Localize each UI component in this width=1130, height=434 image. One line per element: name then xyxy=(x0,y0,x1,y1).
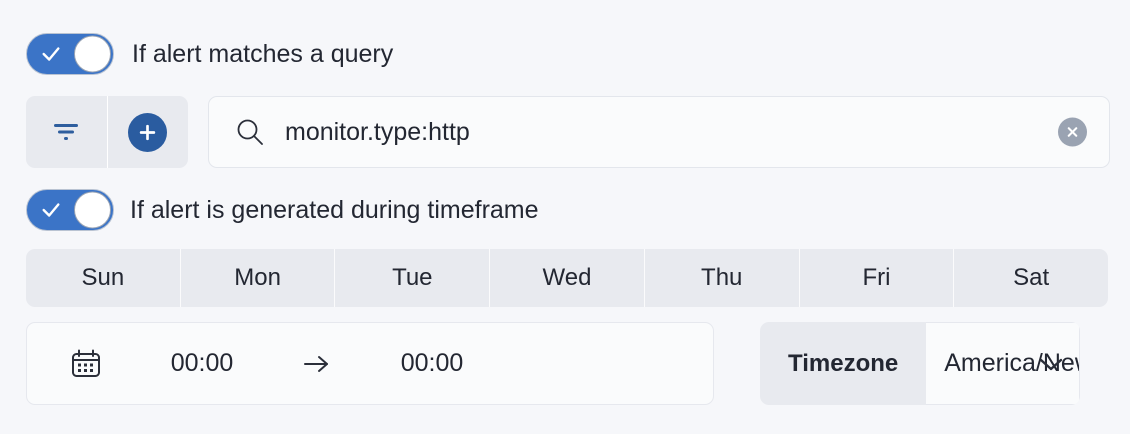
alert-conditions-panel: If alert matches a query xyxy=(0,0,1130,434)
filter-icon xyxy=(53,122,79,142)
check-icon xyxy=(40,43,62,65)
query-condition-row: If alert matches a query xyxy=(26,33,393,75)
timezone-selector: Timezone America/New_York xyxy=(760,322,1080,405)
chevron-down-icon xyxy=(1037,355,1065,373)
filter-button[interactable] xyxy=(26,96,107,168)
day-button-tue[interactable]: Tue xyxy=(334,249,489,307)
query-action-button-group xyxy=(26,96,188,168)
day-button-sat[interactable]: Sat xyxy=(953,249,1108,307)
calendar-icon xyxy=(70,348,102,380)
day-button-sun[interactable]: Sun xyxy=(26,249,180,307)
query-input-row: monitor.type:http xyxy=(26,96,1110,168)
plus-glyph xyxy=(136,121,159,144)
timeframe-settings-row: 00:00 00:00 Timezone America/New_York xyxy=(26,322,1108,405)
day-button-thu[interactable]: Thu xyxy=(644,249,799,307)
close-glyph xyxy=(1065,125,1080,140)
check-icon xyxy=(40,199,62,221)
timeframe-condition-label: If alert is generated during timeframe xyxy=(130,196,539,225)
query-search-input[interactable]: monitor.type:http xyxy=(285,118,470,147)
add-query-button[interactable] xyxy=(107,96,189,168)
time-range-picker[interactable]: 00:00 00:00 xyxy=(26,322,714,405)
toggle-knob xyxy=(74,36,111,73)
end-time-input[interactable]: 00:00 xyxy=(332,349,532,378)
day-button-fri[interactable]: Fri xyxy=(799,249,954,307)
toggle-if-alert-generated-during-timeframe[interactable] xyxy=(26,189,114,231)
plus-icon xyxy=(128,113,167,152)
close-icon[interactable] xyxy=(1058,118,1087,147)
timezone-dropdown[interactable]: America/New_York xyxy=(926,322,1080,405)
query-condition-label: If alert matches a query xyxy=(132,40,393,69)
toggle-knob xyxy=(74,192,111,229)
start-time-input[interactable]: 00:00 xyxy=(102,349,302,378)
day-button-wed[interactable]: Wed xyxy=(489,249,644,307)
timezone-label: Timezone xyxy=(760,322,926,405)
timeframe-condition-row: If alert is generated during timeframe xyxy=(26,189,539,231)
arrow-right-icon xyxy=(302,353,332,375)
search-icon xyxy=(235,117,265,147)
day-of-week-selector: Sun Mon Tue Wed Thu Fri Sat xyxy=(26,249,1108,307)
day-button-mon[interactable]: Mon xyxy=(180,249,335,307)
query-search-field[interactable]: monitor.type:http xyxy=(208,96,1110,168)
toggle-if-alert-matches-query[interactable] xyxy=(26,33,114,75)
